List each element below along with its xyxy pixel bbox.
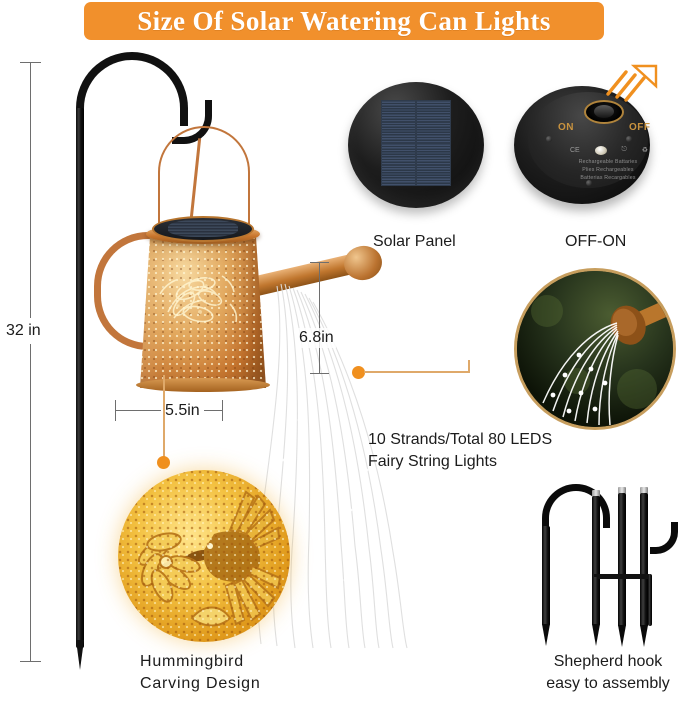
height-dimension-label: 32 in <box>4 318 43 344</box>
carving-mesh-texture <box>118 470 290 642</box>
title-banner: Size Of Solar Watering Can Lights <box>84 2 604 40</box>
fairy-lights-label-line2: Fairy String Lights <box>368 452 497 472</box>
solar-cell <box>417 123 450 143</box>
off-on-module: ON OFF CE ⎋ ♻ Rechargeable Battaries Pli… <box>508 74 658 216</box>
page-title: Size Of Solar Watering Can Lights <box>137 6 550 37</box>
drop-dimension-cap-bottom <box>310 373 329 374</box>
hummingbird-label-line2: Carving Design <box>140 674 261 694</box>
solar-panel-cells <box>381 100 451 186</box>
pole-segment <box>618 493 626 627</box>
hummingbird-label-line1: Hummingbird <box>140 652 244 672</box>
shepherd-hook-ground-spike <box>72 640 88 670</box>
led-lamp-icon <box>595 146 607 155</box>
on-label: ON <box>558 122 574 133</box>
compliance-icon-row: CE ⎋ ♻ <box>570 144 648 156</box>
screw-icon <box>626 136 632 142</box>
hook-curve-leg <box>542 526 550 626</box>
power-switch-knob[interactable] <box>594 105 614 118</box>
solar-cell <box>417 101 450 121</box>
shepherd-hook-pole <box>76 108 84 648</box>
solar-cell <box>417 166 450 186</box>
width-dimension-label: 5.5in <box>161 401 204 421</box>
hook-curve-leg-tip <box>542 624 550 646</box>
battery-fineprint: Rechargeable Battaries Plies Rechargeabl… <box>572 158 644 182</box>
solar-cell <box>382 144 415 164</box>
pole-segment <box>592 496 600 626</box>
ce-mark-icon: CE <box>570 147 580 154</box>
fairy-lights-callout-line <box>364 371 470 373</box>
pole-segment-tip <box>618 625 626 647</box>
height-dimension-cap-top <box>20 62 41 63</box>
solar-cell <box>382 101 415 121</box>
wee-bin-icon: ⎋ <box>621 146 627 154</box>
recycle-mark-icon: ♻ <box>642 146 648 154</box>
fineprint-line: Rechargeable Battaries <box>572 158 644 166</box>
hummingbird-carving-disc <box>118 470 290 642</box>
fineprint-line: Plies Rechargeables <box>572 166 644 174</box>
pole-segment-tip <box>640 625 648 647</box>
fairy-lights-label-line1: 10 Strands/Total 80 LEDS <box>368 430 552 450</box>
can-floral-cutout-pattern <box>148 254 256 346</box>
solar-cell <box>382 166 415 186</box>
drop-dimension-line <box>319 262 320 374</box>
can-base <box>136 378 270 392</box>
width-dimension-cap-left <box>115 400 116 421</box>
solar-cell <box>382 123 415 143</box>
drop-dimension-label: 6.8in <box>297 328 336 348</box>
off-on-face-plate: ON OFF CE ⎋ ♻ Rechargeable Battaries Pli… <box>528 92 648 188</box>
solar-panel-module <box>348 78 484 214</box>
shepherd-hook-parts <box>538 470 678 640</box>
shepherd-hook-label-line2: easy to assembly <box>536 674 679 694</box>
ground-stake-crossbar <box>598 576 650 579</box>
switch-pointer-arrow-icon <box>604 64 658 104</box>
pole-segment-tip <box>592 624 600 646</box>
infographic-canvas: Size Of Solar Watering Can Lights 32 in <box>0 0 679 707</box>
off-label: OFF <box>629 122 651 133</box>
drop-dimension-cap-top <box>310 262 329 263</box>
screw-icon <box>546 136 552 142</box>
hook-small-curve-part <box>650 522 678 554</box>
pole-segment <box>640 493 648 627</box>
fairy-lights-night-photo <box>514 268 676 430</box>
can-solar-lid-cell <box>168 220 238 237</box>
height-dimension-line <box>30 62 31 662</box>
solar-cell <box>417 144 450 164</box>
solar-panel-label: Solar Panel <box>373 232 456 252</box>
shepherd-hook-label-line1: Shepherd hook <box>536 652 679 672</box>
hummingbird-callout-line <box>163 375 165 463</box>
fineprint-line: Batterias Recargables <box>572 174 644 182</box>
ground-stake-leg <box>648 574 652 626</box>
height-dimension-cap-bottom <box>20 661 41 662</box>
hummingbird-callout-dot <box>157 456 170 469</box>
fairy-lights-callout-riser <box>468 360 470 373</box>
off-on-label: OFF-ON <box>565 232 626 252</box>
width-dimension-cap-right <box>222 400 223 421</box>
